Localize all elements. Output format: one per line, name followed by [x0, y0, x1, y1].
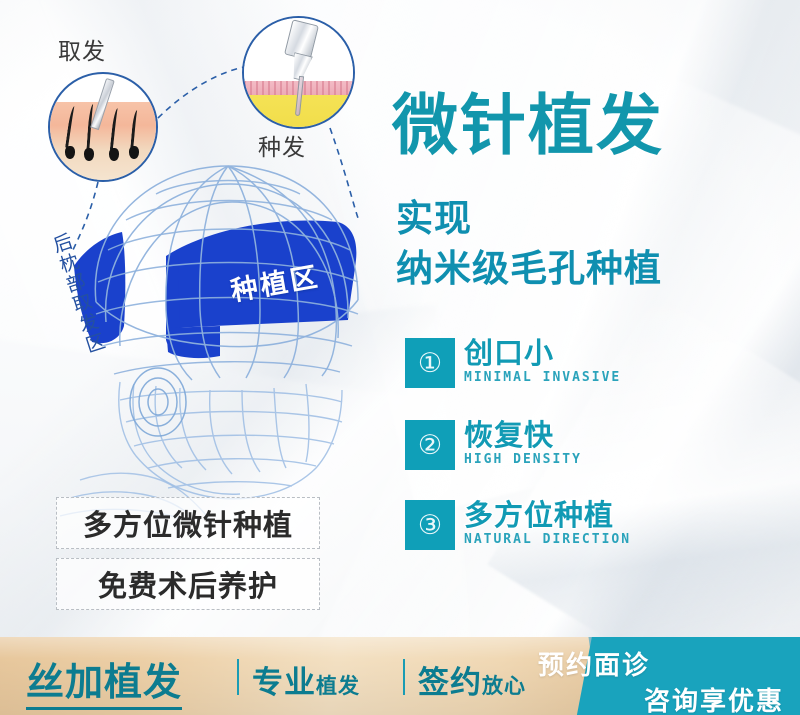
implant-illustration-circle	[242, 16, 355, 129]
footer-tag-2: 签约放心	[418, 657, 526, 702]
footer-bar: 丝加植发 专业植发 签约放心 预约面诊 咨询享优惠	[0, 637, 800, 715]
feature-number-box: ②	[405, 420, 455, 470]
feature-title: 恢复快	[464, 420, 582, 451]
brand-name[interactable]: 丝加植发	[26, 651, 182, 710]
callout-box-2: 免费术后养护	[56, 558, 320, 610]
feature-item-2[interactable]: ② 恢复快 HIGH DENSITY	[405, 420, 582, 470]
cta-line-2[interactable]: 咨询享优惠	[644, 681, 784, 715]
subtitle-line-1: 实现	[396, 188, 472, 242]
wireframe-head-diagram: 种植区	[60, 150, 390, 520]
feature-item-3[interactable]: ③ 多方位种植 NATURAL DIRECTION	[405, 500, 631, 550]
footer-tag-2-big: 签约	[418, 665, 482, 701]
footer-tag-1: 专业植发	[252, 657, 360, 702]
footer-tag-2-small: 放心	[482, 674, 526, 698]
circled-number-icon: ①	[418, 350, 442, 377]
head-wireframe-svg	[60, 150, 390, 520]
callout-box-1: 多方位微针种植	[56, 497, 320, 549]
feature-title: 多方位种植	[464, 500, 631, 531]
feature-subtitle: NATURAL DIRECTION	[464, 532, 631, 547]
circled-number-icon: ③	[418, 512, 442, 539]
footer-tag-1-big: 专业	[252, 665, 316, 701]
feature-subtitle: MINIMAL INVASIVE	[464, 370, 621, 385]
footer-divider-1	[237, 659, 239, 695]
cta-line-1[interactable]: 预约面诊	[538, 645, 650, 682]
feature-subtitle: HIGH DENSITY	[464, 452, 582, 467]
feature-title: 创口小	[464, 338, 621, 369]
circled-number-icon: ②	[418, 432, 442, 459]
page-title: 微针植发	[392, 72, 664, 168]
extraction-label: 取发	[58, 32, 106, 66]
poster-canvas: 取发 种发	[0, 0, 800, 715]
subtitle-line-2: 纳米级毛孔种植	[396, 238, 662, 292]
footer-tag-1-small: 植发	[316, 674, 360, 698]
feature-item-1[interactable]: ① 创口小 MINIMAL INVASIVE	[405, 338, 621, 388]
feature-number-box: ③	[405, 500, 455, 550]
footer-divider-2	[403, 659, 405, 695]
feature-number-box: ①	[405, 338, 455, 388]
